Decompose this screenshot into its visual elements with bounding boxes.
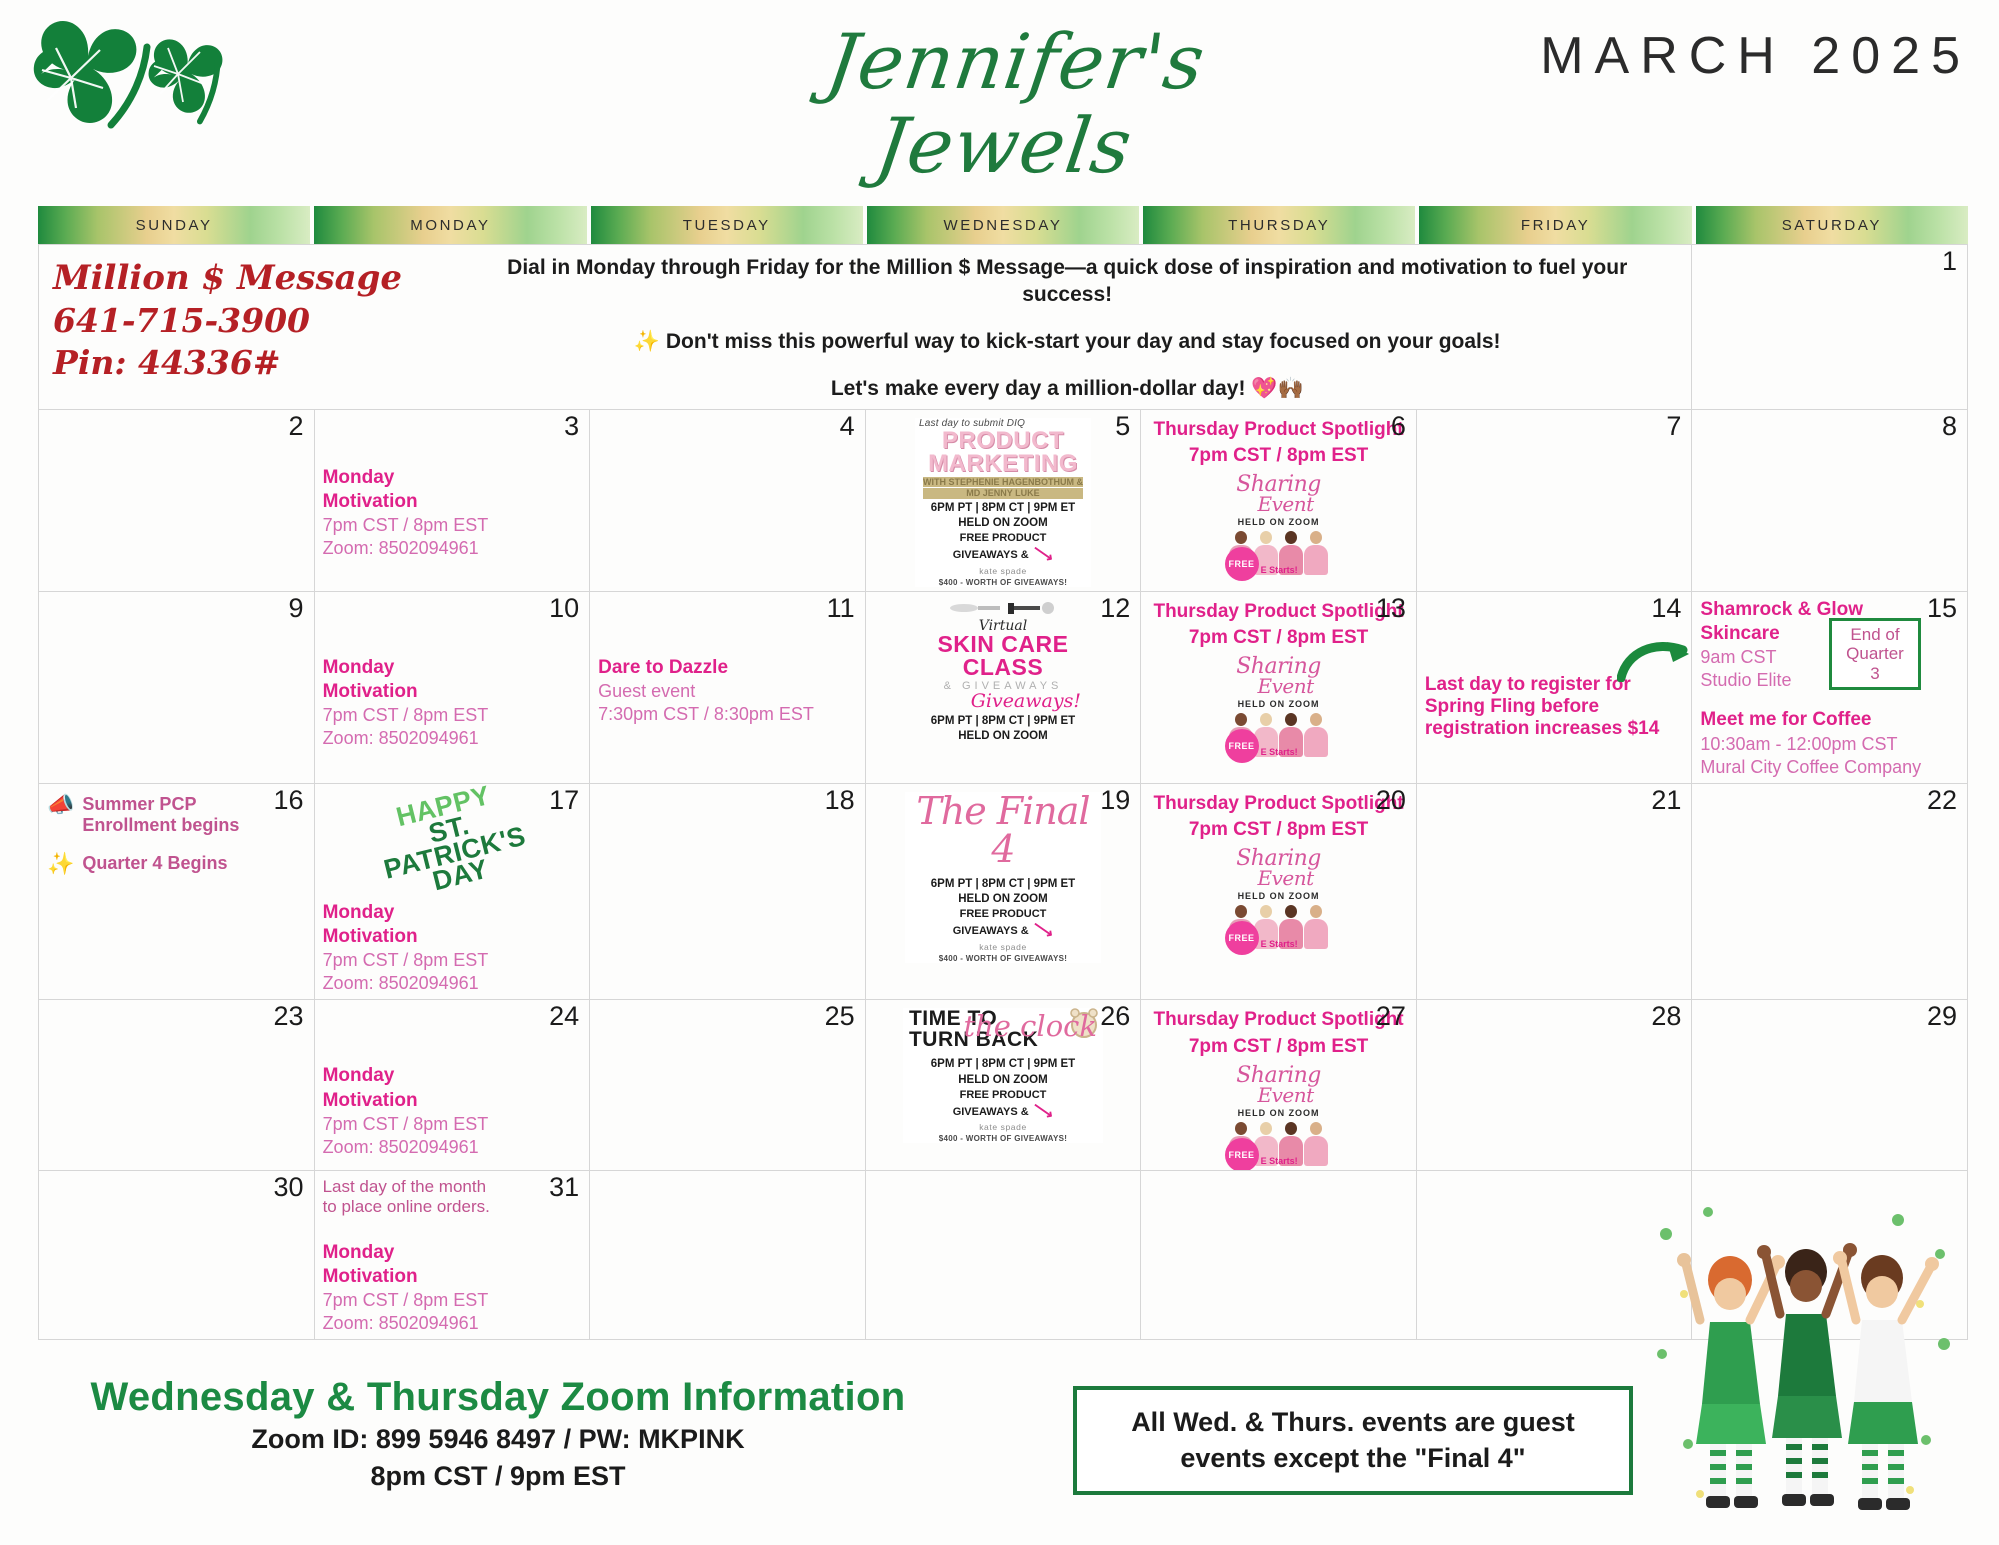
- day-number: 3: [564, 412, 579, 442]
- weekday-saturday: SATURDAY: [1696, 206, 1968, 244]
- event-meet-for-coffee[interactable]: Meet me for Coffee 10:30am - 12:00pm CST…: [1700, 708, 1959, 778]
- week-row-1: Million $ Message 641-715-3900 Pin: 4433…: [39, 245, 1968, 410]
- sharing-script: Sharing Event: [1219, 475, 1339, 513]
- day-number: 13: [1376, 594, 1406, 624]
- event-zoom-id: Zoom: 8502094961: [323, 1136, 582, 1159]
- day-number: 28: [1651, 1002, 1681, 1032]
- day-cell-19[interactable]: 19 The Final 4 6PM PT | 8PM CT | 9PM ET …: [866, 784, 1142, 1001]
- sharing-script-l2: Event: [1233, 869, 1339, 887]
- flyer-detail-1: 6PM PT | 8PM CT | 9PM ET: [913, 715, 1093, 728]
- event-monday-motivation[interactable]: Monday Motivation 7pm CST / 8pm EST Zoom…: [323, 1241, 582, 1336]
- st-patricks-day-graphic: HAPPY ST. PATRICK'S DAY: [353, 784, 551, 909]
- green-arrow-icon: [1617, 636, 1692, 682]
- flyer-headline-1: PRODUCT: [915, 430, 1091, 453]
- flyer-brands: kate spade: [903, 1122, 1103, 1132]
- day-number: 19: [1100, 786, 1130, 816]
- note-line2: to place online orders.: [323, 1197, 548, 1217]
- brand-title: Jennifer's Jewels: [688, 20, 1331, 187]
- event-thursday-spotlight-title: Thursday Product Spotlight: [1149, 792, 1408, 817]
- day-number: 5: [1115, 412, 1130, 442]
- flyer-free-2: GIVEAWAYS & ⟶: [905, 922, 1101, 939]
- free-badge: FREE: [1225, 729, 1259, 763]
- event-title-line2: Motivation: [323, 1089, 582, 1113]
- sharing-script-l2: Event: [1233, 495, 1339, 513]
- event-zoom-id: Zoom: 8502094961: [323, 727, 582, 750]
- week-row-5: 23 24 Monday Motivation 7pm CST / 8pm ES…: [39, 1000, 1968, 1170]
- day-cell-24[interactable]: 24 Monday Motivation 7pm CST / 8pm EST Z…: [315, 1000, 591, 1170]
- flyer-worth: $400 - WORTH OF GIVEAWAYS!: [905, 954, 1101, 963]
- event-time: 7pm CST / 8pm EST: [323, 704, 582, 727]
- zoom-information-block: Wednesday & Thursday Zoom Information Zo…: [48, 1374, 948, 1494]
- event-dare-to-dazzle[interactable]: Dare to Dazzle Guest event 7:30pm CST / …: [598, 656, 857, 726]
- event-title-line1: Monday: [323, 656, 582, 680]
- event-thursday-spotlight-time: 7pm CST / 8pm EST: [1149, 1035, 1408, 1060]
- day-number: 14: [1651, 594, 1681, 624]
- flyer-brands: kate spade: [905, 942, 1101, 952]
- eoq-line1: End of: [1834, 625, 1916, 645]
- weekday-friday: FRIDAY: [1419, 206, 1691, 244]
- event-starts-label: E Starts!: [1261, 1156, 1298, 1166]
- day-number: 31: [549, 1173, 579, 1203]
- day-cell-25[interactable]: 25: [590, 1000, 866, 1170]
- flyer-byline-1: WITH STEPHENIE HAGENBOTHUM &: [923, 477, 1083, 487]
- sharing-zoom-label: HELD ON ZOOM: [1219, 891, 1339, 901]
- week-row-2: 2 3 Monday Motivation 7pm CST / 8pm EST …: [39, 410, 1968, 592]
- sparkles-icon: ✨: [47, 853, 74, 875]
- weekday-thursday: THURSDAY: [1143, 206, 1415, 244]
- person-avatar: [1304, 713, 1328, 757]
- flyer-free-2-text: GIVEAWAYS &: [953, 1106, 1029, 1118]
- million-message-title: Million $ Message: [53, 257, 459, 300]
- flyer-script-title: The Final 4: [905, 792, 1101, 868]
- day-cell-27[interactable]: 27 Thursday Product Spotlight 7pm CST / …: [1141, 1000, 1417, 1170]
- day-cell-1[interactable]: 1: [1692, 245, 1968, 410]
- day-number: 20: [1376, 786, 1406, 816]
- sharing-event-flyer[interactable]: Sharing Event HELD ON ZOOM FREE E Starts…: [1219, 1066, 1339, 1166]
- day-number: 16: [274, 786, 304, 816]
- sharing-zoom-label: HELD ON ZOOM: [1219, 699, 1339, 709]
- flyer-script: the clock: [963, 1012, 1097, 1041]
- day-cell-11[interactable]: 11 Dare to Dazzle Guest event 7:30pm CST…: [590, 592, 866, 784]
- shamrock-icon: [8, 8, 278, 173]
- sharing-people-photo: FREE E Starts!: [1219, 1120, 1339, 1166]
- million-message-phone: 641-715-3900: [53, 300, 459, 343]
- million-message-pin: Pin: 44336#: [53, 342, 459, 385]
- event-time: 10:30am - 12:00pm CST: [1700, 733, 1959, 756]
- flyer-byline-2: MD JENNY LUKE: [923, 488, 1083, 498]
- day-cell-8[interactable]: 8: [1692, 410, 1968, 592]
- day-cell-28[interactable]: 28: [1417, 1000, 1693, 1170]
- flyer-free-2-text: GIVEAWAYS &: [953, 925, 1029, 937]
- day-cell-15[interactable]: 15 End of Quarter 3 Shamrock & Glow Skin…: [1692, 592, 1968, 784]
- event-title-line1: Monday: [323, 1064, 582, 1088]
- day-number: 23: [274, 1002, 304, 1032]
- day-cell-2[interactable]: 2: [39, 410, 315, 592]
- zoom-info-time: 8pm CST / 9pm EST: [48, 1459, 948, 1494]
- day-cell-31[interactable]: 31 Last day of the month to place online…: [315, 1171, 591, 1341]
- day-number: 12: [1100, 594, 1130, 624]
- event-title-line2: Motivation: [323, 1265, 582, 1289]
- person-avatar: [1304, 1122, 1328, 1166]
- day-cell-12[interactable]: 12 Virtual SKIN CARE CLA: [866, 592, 1142, 784]
- sharing-event-flyer[interactable]: Sharing Event HELD ON ZOOM FREE E Starts…: [1219, 475, 1339, 575]
- sharing-script: Sharing Event: [1219, 657, 1339, 695]
- flyer-brands: kate spade: [915, 566, 1091, 576]
- day-cell-21[interactable]: 21: [1417, 784, 1693, 1001]
- flyer-free-2: GIVEAWAYS & ⟶: [903, 1103, 1103, 1120]
- event-monday-motivation[interactable]: Monday Motivation 7pm CST / 8pm EST Zoom…: [323, 1064, 582, 1159]
- day-cell-13[interactable]: 13 Thursday Product Spotlight 7pm CST / …: [1141, 592, 1417, 784]
- day-cell-16[interactable]: 16 📣 Summer PCP Enrollment begins ✨ Quar…: [39, 784, 315, 1001]
- event-spring-fling-note: Last day to register for Spring Fling be…: [1425, 674, 1684, 740]
- event-starts-label: E Starts!: [1261, 565, 1298, 575]
- day-number: 15: [1927, 594, 1957, 624]
- final-four-flyer[interactable]: The Final 4 6PM PT | 8PM CT | 9PM ET HEL…: [905, 792, 1101, 963]
- free-badge: FREE: [1225, 547, 1259, 581]
- million-message-banner: Million $ Message 641-715-3900 Pin: 4433…: [39, 245, 1692, 410]
- product-marketing-flyer[interactable]: Last day to submit DIQ PRODUCT MARKETING…: [915, 418, 1091, 587]
- event-monday-motivation[interactable]: Monday Motivation 7pm CST / 8pm EST Zoom…: [323, 466, 582, 561]
- million-message-contact: Million $ Message 641-715-3900 Pin: 4433…: [39, 245, 459, 409]
- event-time: 7pm CST / 8pm EST: [323, 1289, 582, 1312]
- pcp-line2: Enrollment begins: [82, 815, 239, 835]
- day-number: 2: [289, 412, 304, 442]
- person-avatar: [1304, 531, 1328, 575]
- event-zoom-id: Zoom: 8502094961: [323, 972, 582, 995]
- day-cell-17[interactable]: 17 HAPPY ST. PATRICK'S DAY Monday Motiva…: [315, 784, 591, 1001]
- day-number: 1: [1942, 247, 1957, 277]
- month-title: MARCH 2025: [1540, 26, 1971, 86]
- flyer-free-1: FREE PRODUCT: [903, 1089, 1103, 1101]
- guest-events-note: All Wed. & Thurs. events are guest event…: [1073, 1386, 1633, 1495]
- calendar-grid: SUNDAY MONDAY TUESDAY WEDNESDAY THURSDAY…: [38, 206, 1968, 1340]
- day-cell-29[interactable]: 29: [1692, 1000, 1968, 1170]
- day-cell-10[interactable]: 10 Monday Motivation 7pm CST / 8pm EST Z…: [315, 592, 591, 784]
- sharing-script-l2: Event: [1233, 1086, 1339, 1104]
- free-badge: FREE: [1225, 1138, 1259, 1171]
- day-cell-7[interactable]: 7: [1417, 410, 1693, 592]
- event-title-line1: Monday: [323, 1241, 582, 1265]
- day-number: 30: [274, 1173, 304, 1203]
- million-message-body: Dial in Monday through Friday for the Mi…: [459, 245, 1691, 409]
- flyer-detail-1: 6PM PT | 8PM CT | 9PM ET: [905, 878, 1101, 891]
- event-title-line2: Motivation: [323, 680, 582, 704]
- note-line1: Last day of the month: [323, 1177, 548, 1197]
- event-monday-motivation[interactable]: Monday Motivation 7pm CST / 8pm EST Zoom…: [323, 656, 582, 751]
- day-cell-empty-2: [866, 1171, 1142, 1341]
- day-number: 8: [1942, 412, 1957, 442]
- weekday-tuesday: TUESDAY: [591, 206, 863, 244]
- day-cell-6[interactable]: 6 Thursday Product Spotlight 7pm CST / 8…: [1141, 410, 1417, 592]
- event-time: 7:30pm CST / 8:30pm EST: [598, 703, 857, 726]
- flyer-free-2-text: GIVEAWAYS &: [953, 549, 1029, 561]
- million-message-line2: ✨ Don't miss this powerful way to kick-s…: [469, 329, 1665, 356]
- guest-note-line2: events except the "Final 4": [1087, 1440, 1619, 1476]
- event-quarter4-begins[interactable]: ✨ Quarter 4 Begins: [47, 853, 306, 875]
- day-cell-3[interactable]: 3 Monday Motivation 7pm CST / 8pm EST Zo…: [315, 410, 591, 592]
- event-time: 7pm CST / 8pm EST: [323, 514, 582, 537]
- day-cell-14[interactable]: 14 Last day to register for Spring Fling…: [1417, 592, 1693, 784]
- day-number: 24: [549, 1002, 579, 1032]
- event-thursday-spotlight-title: Thursday Product Spotlight: [1149, 418, 1408, 443]
- event-starts-label: E Starts!: [1261, 747, 1298, 757]
- flyer-detail-1: 6PM PT | 8PM CT | 9PM ET: [915, 502, 1091, 515]
- sharing-people-photo: FREE E Starts!: [1219, 711, 1339, 757]
- zoom-info-id: Zoom ID: 899 5946 8497 / PW: MKPINK: [48, 1422, 948, 1457]
- week-row-4: 16 📣 Summer PCP Enrollment begins ✨ Quar…: [39, 784, 1968, 1001]
- flyer-detail-2: HELD ON ZOOM: [915, 517, 1091, 530]
- event-thursday-spotlight-time: 7pm CST / 8pm EST: [1149, 444, 1408, 469]
- flyer-detail-2: HELD ON ZOOM: [913, 730, 1093, 743]
- day-number: 18: [825, 786, 855, 816]
- event-thursday-spotlight-title: Thursday Product Spotlight: [1149, 600, 1408, 625]
- eoq-line2: Quarter: [1834, 644, 1916, 664]
- weekday-wednesday: WEDNESDAY: [867, 206, 1139, 244]
- event-text: Quarter 4 Begins: [82, 853, 227, 875]
- day-cell-26[interactable]: 26 TIME TO TURN BACK the clock 6PM: [866, 1000, 1142, 1170]
- day-cell-20[interactable]: 20 Thursday Product Spotlight 7pm CST / …: [1141, 784, 1417, 1001]
- flyer-giveaway-script: Giveaways!: [913, 690, 1093, 712]
- week-row-3: 9 10 Monday Motivation 7pm CST / 8pm EST…: [39, 592, 1968, 784]
- eoq-line3: 3: [1834, 664, 1916, 684]
- event-monday-motivation[interactable]: Monday Motivation 7pm CST / 8pm EST Zoom…: [323, 901, 582, 996]
- event-subtitle: Guest event: [598, 680, 857, 703]
- day-number: 11: [827, 594, 855, 624]
- pink-arrow-icon: ⟶: [1029, 917, 1056, 943]
- flyer-free-1: FREE PRODUCT: [915, 532, 1091, 544]
- weekday-monday: MONDAY: [314, 206, 586, 244]
- end-of-quarter-badge: End of Quarter 3: [1829, 618, 1921, 691]
- sharing-zoom-label: HELD ON ZOOM: [1219, 1108, 1339, 1118]
- person-avatar: [1304, 905, 1328, 949]
- free-badge: FREE: [1225, 921, 1259, 955]
- day-number: 9: [289, 594, 304, 624]
- zoom-info-title: Wednesday & Thursday Zoom Information: [48, 1374, 948, 1420]
- makeup-tools-icon: [913, 598, 1093, 618]
- event-time: 7pm CST / 8pm EST: [323, 1113, 582, 1136]
- page-footer: Wednesday & Thursday Zoom Information Zo…: [38, 1374, 1968, 1544]
- flyer-free-1: FREE PRODUCT: [905, 908, 1101, 920]
- day-number: 17: [549, 786, 579, 816]
- skincare-class-flyer[interactable]: Virtual SKIN CARE CLASS & GIVEAWAYS Give…: [913, 598, 1093, 743]
- sharing-people-photo: FREE E Starts!: [1219, 903, 1339, 949]
- sharing-script-l2: Event: [1233, 677, 1339, 695]
- sharing-zoom-label: HELD ON ZOOM: [1219, 517, 1339, 527]
- event-title-line2: Motivation: [323, 490, 582, 514]
- day-number: 22: [1927, 786, 1957, 816]
- flyer-worth: $400 - WORTH OF GIVEAWAYS!: [915, 578, 1091, 587]
- calendar-page: Jennifer's Jewels MARCH 2025 SUNDAY MOND…: [0, 0, 1999, 1545]
- event-title: Meet me for Coffee: [1700, 708, 1959, 732]
- event-title: Dare to Dazzle: [598, 656, 857, 680]
- event-location: Mural City Coffee Company: [1700, 756, 1959, 779]
- event-title-line2: Motivation: [323, 925, 582, 949]
- event-summer-pcp[interactable]: 📣 Summer PCP Enrollment begins: [47, 794, 306, 837]
- event-last-day-orders[interactable]: Last day of the month to place online or…: [323, 1177, 582, 1217]
- event-title-line1: Monday: [323, 901, 582, 925]
- event-zoom-id: Zoom: 8502094961: [323, 537, 582, 560]
- event-title-line1: Monday: [323, 466, 582, 490]
- event-thursday-spotlight-time: 7pm CST / 8pm EST: [1149, 626, 1408, 651]
- page-header: Jennifer's Jewels MARCH 2025: [0, 0, 1999, 200]
- sharing-script: Sharing Event: [1219, 1066, 1339, 1104]
- day-number: 6: [1391, 412, 1406, 442]
- flyer-detail-1: 6PM PT | 8PM CT | 9PM ET: [903, 1058, 1103, 1071]
- day-number: 10: [549, 594, 579, 624]
- day-number: 27: [1376, 1002, 1406, 1032]
- turn-back-clock-flyer[interactable]: TIME TO TURN BACK the clock 6PM PT | 8PM…: [903, 1008, 1103, 1143]
- pink-arrow-icon: ⟶: [1029, 1098, 1056, 1124]
- flyer-title: SKIN CARE CLASS: [913, 633, 1093, 679]
- sharing-script: Sharing Event: [1219, 849, 1339, 887]
- pcp-line1: Summer PCP: [82, 794, 196, 814]
- megaphone-icon: 📣: [47, 794, 74, 816]
- event-zoom-id: Zoom: 8502094961: [323, 1312, 582, 1335]
- flyer-free-2: GIVEAWAYS & ⟶: [915, 546, 1091, 563]
- event-thursday-spotlight-time: 7pm CST / 8pm EST: [1149, 818, 1408, 843]
- million-message-line1: Dial in Monday through Friday for the Mi…: [469, 255, 1665, 309]
- million-message-line3: Let's make every day a million-dollar da…: [469, 376, 1665, 403]
- guest-note-line1: All Wed. & Thurs. events are guest: [1087, 1404, 1619, 1440]
- day-cell-30[interactable]: 30: [39, 1171, 315, 1341]
- day-number: 7: [1666, 412, 1681, 442]
- flyer-detail-2: HELD ON ZOOM: [905, 893, 1101, 906]
- day-number: 26: [1100, 1002, 1130, 1032]
- flyer-detail-2: HELD ON ZOOM: [903, 1074, 1103, 1087]
- event-text: Summer PCP Enrollment begins: [82, 794, 239, 837]
- flyer-headline-2: MARKETING: [915, 453, 1091, 476]
- day-number: 4: [840, 412, 855, 442]
- day-cell-23[interactable]: 23: [39, 1000, 315, 1170]
- day-cell-22[interactable]: 22: [1692, 784, 1968, 1001]
- day-cell-18[interactable]: 18: [590, 784, 866, 1001]
- pink-arrow-icon: ⟶: [1029, 541, 1056, 567]
- day-cell-empty-3: [1141, 1171, 1417, 1341]
- dancing-ladies-illustration: [1648, 1194, 1958, 1524]
- day-cell-5[interactable]: 5 Last day to submit DIQ PRODUCT MARKETI…: [866, 410, 1142, 592]
- day-number: 29: [1927, 1002, 1957, 1032]
- day-number: 25: [825, 1002, 855, 1032]
- flyer-worth: $400 - WORTH OF GIVEAWAYS!: [903, 1134, 1103, 1143]
- sharing-event-flyer[interactable]: Sharing Event HELD ON ZOOM FREE E Starts…: [1219, 657, 1339, 757]
- event-time: 7pm CST / 8pm EST: [323, 949, 582, 972]
- day-cell-9[interactable]: 9: [39, 592, 315, 784]
- weekday-header-row: SUNDAY MONDAY TUESDAY WEDNESDAY THURSDAY…: [38, 206, 1968, 244]
- day-cell-empty-1: [590, 1171, 866, 1341]
- weekday-sunday: SUNDAY: [38, 206, 310, 244]
- day-cell-4[interactable]: 4: [590, 410, 866, 592]
- event-thursday-spotlight-title: Thursday Product Spotlight: [1149, 1008, 1408, 1033]
- event-starts-label: E Starts!: [1261, 939, 1298, 949]
- day-number: 21: [1651, 786, 1681, 816]
- sharing-people-photo: FREE E Starts!: [1219, 529, 1339, 575]
- sharing-event-flyer[interactable]: Sharing Event HELD ON ZOOM FREE E Starts…: [1219, 849, 1339, 949]
